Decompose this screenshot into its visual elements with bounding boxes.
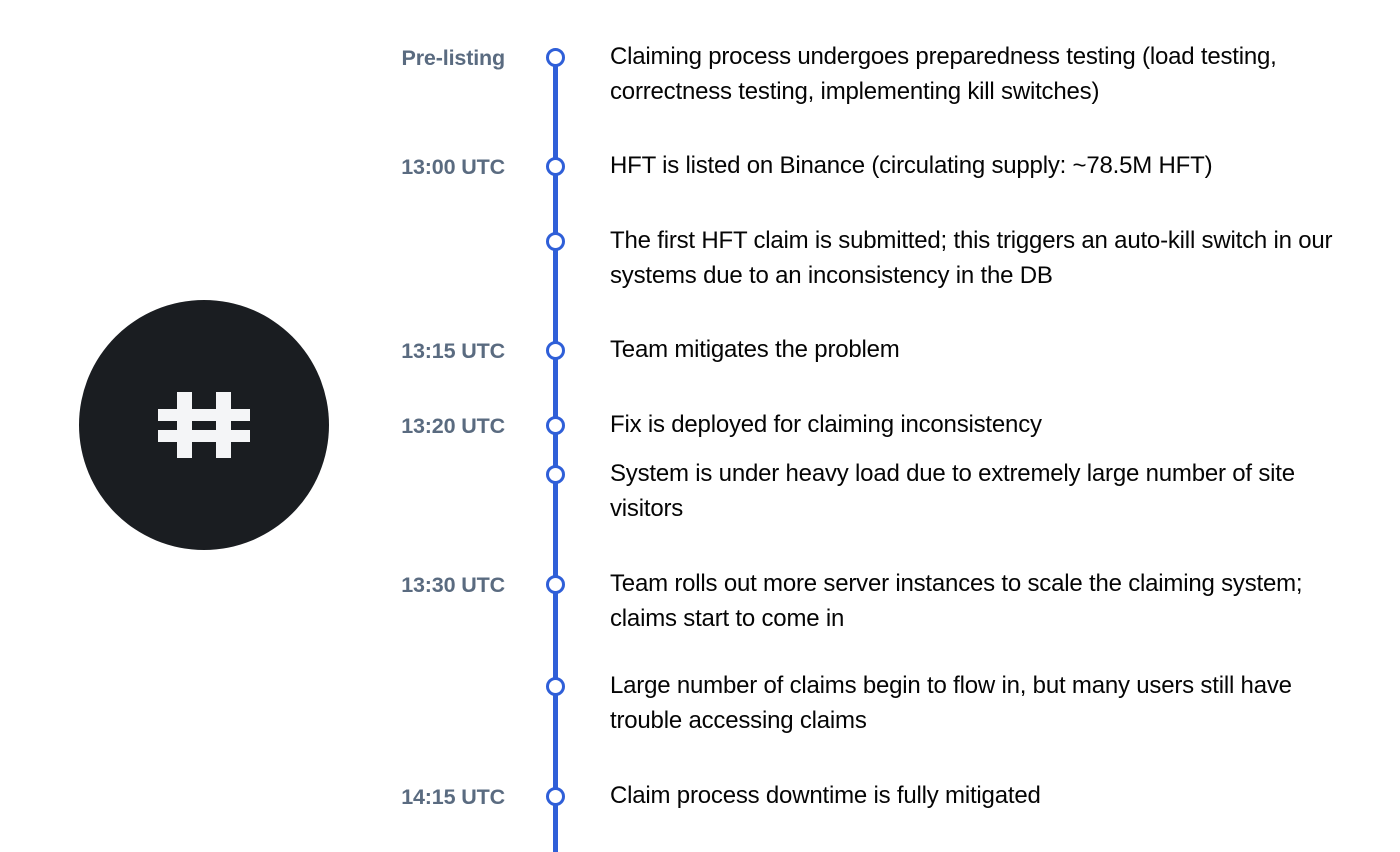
timeline-event-text: System is under heavy load due to extrem… <box>610 456 1370 526</box>
timeline-marker <box>546 157 565 176</box>
timeline-spine <box>553 57 558 852</box>
timeline-event-time: 13:30 UTC <box>155 575 505 597</box>
timeline-event-time: Pre-listing <box>155 48 505 70</box>
timeline-marker <box>546 341 565 360</box>
timeline-page: Pre-listing Claiming process undergoes p… <box>0 0 1400 852</box>
timeline-marker <box>546 416 565 435</box>
timeline-event-time: 13:15 UTC <box>155 341 505 363</box>
timeline-event-text: Team mitigates the problem <box>610 332 1370 367</box>
timeline-event-text: Large number of claims begin to flow in,… <box>610 668 1370 738</box>
timeline-event-text: Team rolls out more server instances to … <box>610 566 1370 636</box>
timeline-event-text: The first HFT claim is submitted; this t… <box>610 223 1370 293</box>
timeline-marker <box>546 787 565 806</box>
timeline-event-text: HFT is listed on Binance (circulating su… <box>610 148 1370 183</box>
timeline-event-text: Fix is deployed for claiming inconsisten… <box>610 407 1370 442</box>
timeline-marker <box>546 575 565 594</box>
timeline-event-time: 14:15 UTC <box>155 787 505 809</box>
timeline-event-time: 13:00 UTC <box>155 157 505 179</box>
timeline-marker <box>546 232 565 251</box>
timeline-event-time: 13:20 UTC <box>155 416 505 438</box>
timeline-marker <box>546 48 565 67</box>
timeline-event-text: Claim process downtime is fully mitigate… <box>610 778 1370 813</box>
incident-timeline: Pre-listing Claiming process undergoes p… <box>0 0 1400 852</box>
timeline-marker <box>546 677 565 696</box>
timeline-marker <box>546 465 565 484</box>
timeline-event-text: Claiming process undergoes preparedness … <box>610 39 1370 109</box>
